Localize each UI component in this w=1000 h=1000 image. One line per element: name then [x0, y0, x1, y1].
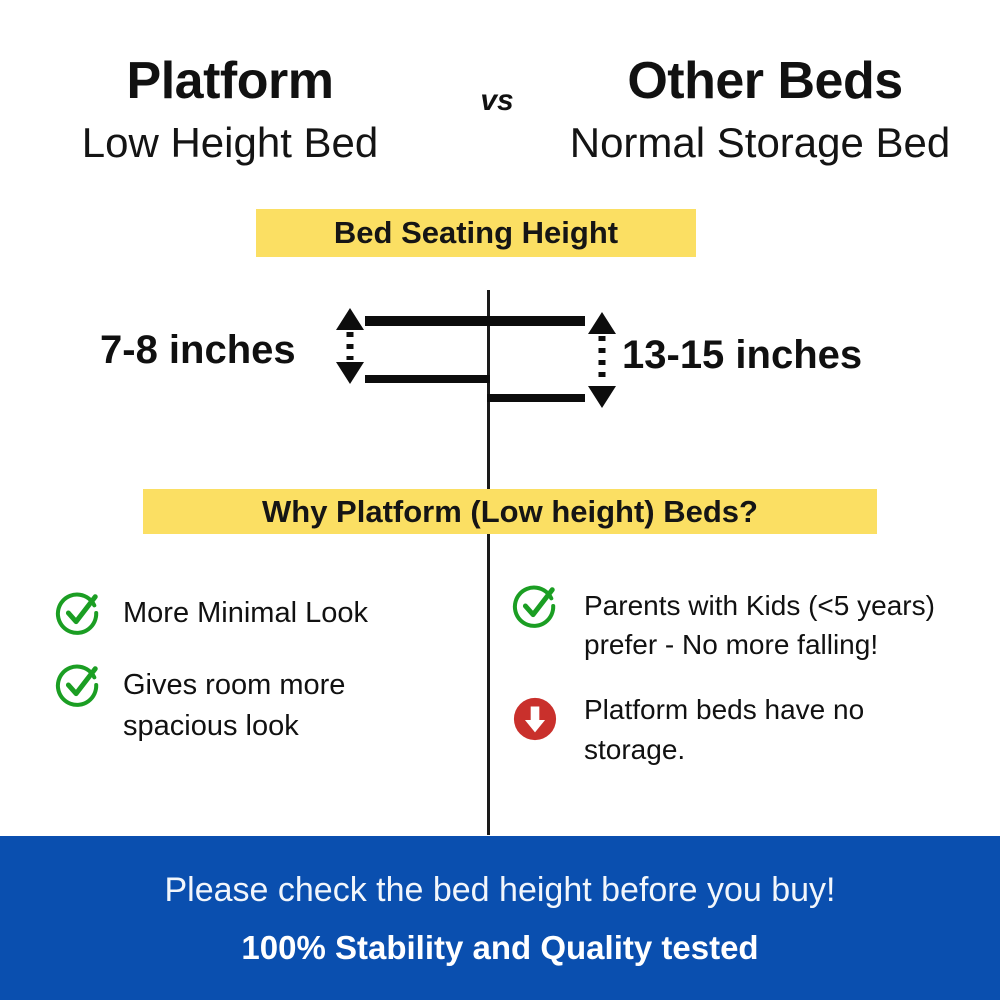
storage-bed-base-line [487, 394, 585, 402]
list-item: Platform beds have no storage. [512, 690, 992, 768]
banner-why-platform-beds: Why Platform (Low height) Beds? [143, 489, 877, 534]
right-height-arrow-icon [585, 310, 619, 410]
infographic-canvas: Platform Low Height Bed vs Other Beds No… [0, 0, 1000, 1000]
footer-quality-text: 100% Stability and Quality tested [241, 931, 758, 964]
banner-bed-seating-height: Bed Seating Height [256, 209, 696, 257]
green-check-icon [55, 662, 101, 708]
benefits-right-column: Parents with Kids (<5 years) prefer - No… [512, 583, 992, 795]
benefits-left-column: More Minimal Look Gives room more spacio… [55, 590, 475, 772]
versus-label: vs [462, 86, 532, 116]
bed-height-diagram: 7-8 inches 13-15 inches [0, 280, 1000, 420]
footer-notice-text: Please check the bed height before you b… [164, 873, 835, 907]
list-item: Gives room more spacious look [55, 662, 475, 746]
footer-banner: Please check the bed height before you b… [0, 836, 1000, 1000]
green-check-icon [55, 590, 101, 636]
other-beds-subtitle: Normal Storage Bed [520, 122, 1000, 164]
list-item-label: Parents with Kids (<5 years) prefer - No… [584, 583, 984, 664]
center-divider-line [487, 290, 490, 835]
other-beds-title: Other Beds [530, 55, 1000, 107]
list-item-label: Platform beds have no storage. [584, 690, 924, 768]
green-check-icon [512, 583, 558, 629]
platform-base-line [365, 375, 490, 383]
red-down-arrow-icon [512, 696, 558, 742]
list-item-label: More Minimal Look [123, 590, 368, 634]
platform-title: Platform [0, 55, 460, 107]
mattress-top-line [365, 316, 585, 326]
list-item: More Minimal Look [55, 590, 475, 636]
list-item: Parents with Kids (<5 years) prefer - No… [512, 583, 992, 664]
left-height-arrow-icon [333, 306, 367, 386]
list-item-label: Gives room more spacious look [123, 662, 403, 746]
platform-height-label: 7-8 inches [100, 330, 296, 370]
platform-subtitle: Low Height Bed [0, 122, 460, 164]
storage-bed-height-label: 13-15 inches [622, 335, 862, 375]
